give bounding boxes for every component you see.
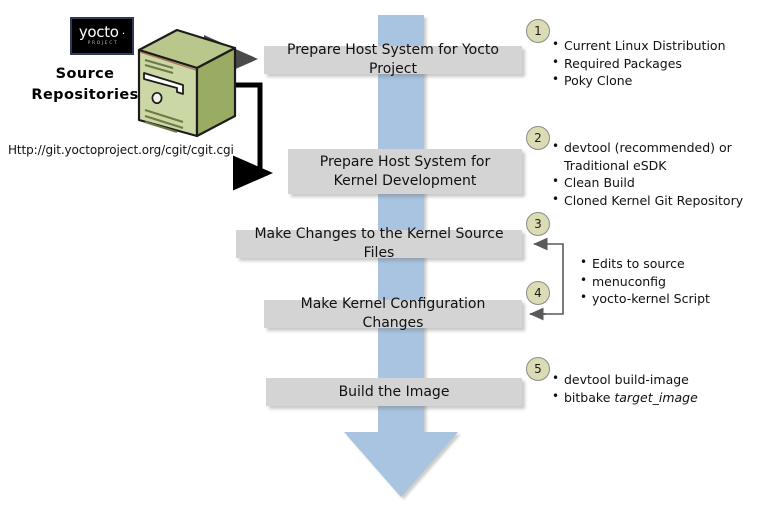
process-box-make-config-changes[interactable]: Make Kernel Configuration Changes (264, 300, 522, 328)
logo-subtitle: PROJECT (88, 42, 119, 47)
source-label-line-2: Repositories (22, 85, 148, 106)
kernel-loop-notes: Edits to source menuconfig yocto-kernel … (580, 255, 760, 308)
source-label-line-1: Source (22, 64, 148, 85)
note-item: Poky Clone (552, 72, 764, 90)
source-repositories-label: Source Repositories (22, 64, 148, 106)
step-1-notes: Current Linux Distribution Required Pack… (552, 37, 764, 90)
note-bitbake-command: bitbake (564, 390, 614, 405)
note-item-bitbake: bitbake target_image (552, 389, 762, 407)
process-box-build-image[interactable]: Build the Image (266, 378, 522, 406)
diagram-canvas: yocto · PROJECT Source Repositories Http… (0, 0, 769, 517)
source-repository-url: Http://git.yoctoproject.org/cgit/cgit.cg… (8, 143, 234, 157)
step-badge-3: 3 (526, 212, 550, 236)
note-item: Required Packages (552, 55, 764, 73)
note-item: devtool (recommended) or (552, 139, 757, 157)
server-tower-icon (133, 28, 241, 140)
note-item: menuconfig (580, 273, 760, 291)
process-box-prepare-host-yocto[interactable]: Prepare Host System for Yocto Project (264, 46, 522, 74)
step-badge-4: 4 (526, 281, 550, 305)
step-badge-2: 2 (526, 126, 550, 150)
note-item-continuation: Traditional eSDK (552, 157, 757, 175)
note-item: Edits to source (580, 255, 760, 273)
note-bitbake-target: target_image (614, 390, 697, 405)
step-badge-1: 1 (526, 19, 550, 43)
note-item: Cloned Kernel Git Repository (552, 192, 757, 210)
note-item: yocto-kernel Script (580, 290, 760, 308)
logo-dot: · (122, 28, 126, 39)
yocto-project-logo: yocto · PROJECT (70, 17, 134, 55)
note-item: Current Linux Distribution (552, 37, 764, 55)
step-2-notes: devtool (recommended) or Traditional eSD… (552, 139, 757, 209)
logo-wordmark: yocto (79, 25, 119, 40)
step-badge-5: 5 (526, 357, 550, 381)
step-5-notes: devtool build-image bitbake target_image (552, 371, 762, 406)
process-box-make-source-changes[interactable]: Make Changes to the Kernel Source Files (236, 230, 522, 258)
process-box-prepare-host-kernel[interactable]: Prepare Host System for Kernel Developme… (288, 149, 522, 194)
note-item: Clean Build (552, 174, 757, 192)
note-item: devtool build-image (552, 371, 762, 389)
